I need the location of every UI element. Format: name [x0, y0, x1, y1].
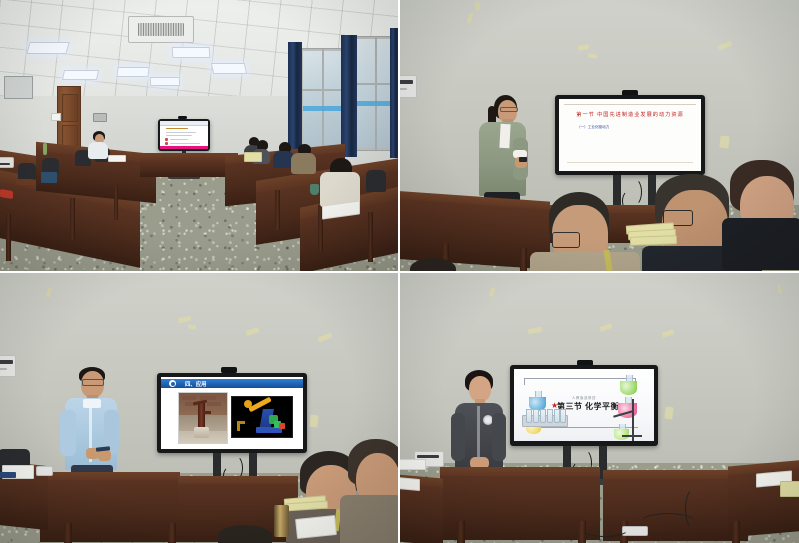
- screen-accent-bar: [160, 146, 208, 149]
- person-hand: [98, 450, 111, 461]
- office-chair[interactable]: [366, 170, 386, 192]
- wall-notice-board: [4, 76, 33, 99]
- panel-bottom-left[interactable]: 四、应用: [0, 271, 398, 543]
- office-chair[interactable]: [18, 163, 36, 180]
- seminar-room-wide-scene: [0, 0, 398, 271]
- person-torso: [722, 218, 799, 270]
- paper-sheet: [295, 515, 337, 539]
- front-table-body: [140, 161, 238, 177]
- floor-cable: [580, 519, 630, 537]
- glasses-icon: [500, 107, 518, 112]
- floor-cable: [685, 487, 705, 531]
- glasses-icon: [82, 379, 104, 386]
- pump-spout: [203, 411, 211, 414]
- teacher-presentation-scene-b: 四、应用: [0, 273, 398, 543]
- slide-engineering: 四、应用: [161, 377, 303, 449]
- panel-bottom-right[interactable]: 人教版选修四 第三节 化学平衡 ★: [398, 271, 799, 543]
- ceiling-light-panel: [62, 70, 99, 80]
- wall-tape-mark: [719, 136, 729, 149]
- person-torso: [88, 142, 108, 159]
- wall-tape-mark: [309, 415, 318, 428]
- person-torso: [530, 252, 640, 271]
- slide-cad-render: [231, 396, 293, 438]
- flask-green: [620, 375, 637, 395]
- desk-device: [36, 466, 53, 476]
- window-curtain: [341, 35, 357, 157]
- desk-leg: [64, 523, 72, 543]
- interactive-flat-panel[interactable]: 四、应用: [157, 373, 307, 453]
- printer-body: [0, 157, 14, 168]
- test-tube-rack: [522, 415, 568, 427]
- cardigan-placket: [477, 406, 480, 464]
- ceiling-light-panel: [211, 63, 247, 74]
- interactive-flat-panel[interactable]: 人教版选修四 第三节 化学平衡 ★: [510, 365, 658, 446]
- tea-cup: [310, 184, 319, 195]
- desk-leg: [457, 521, 465, 543]
- panel-top-left[interactable]: Wide view of U-shaped seminar room with …: [0, 0, 398, 271]
- slide-title: 第一节 中国先进制造业发展的动力资源: [559, 111, 701, 118]
- ceiling-light-panel: [116, 67, 149, 77]
- display-screen[interactable]: [160, 121, 208, 146]
- wall-tape-mark: [664, 407, 673, 420]
- flask-blue: [529, 391, 546, 411]
- person-hair: [218, 525, 272, 543]
- pump-body: [198, 402, 205, 428]
- slide-decor-line: [524, 378, 525, 385]
- water-bottle: [43, 143, 47, 155]
- person-torso: [340, 495, 398, 543]
- paper-sheet: [108, 155, 126, 162]
- chair-armrest: [16, 179, 35, 185]
- wall-speaker: [93, 113, 107, 122]
- wall-sign: [51, 113, 61, 121]
- stacked-books: [244, 152, 262, 162]
- presentation-clicker[interactable]: [519, 157, 527, 162]
- display-screen[interactable]: 人教版选修四 第三节 化学平衡 ★: [514, 369, 654, 441]
- side-desk-body-left: [400, 482, 443, 543]
- slide-title-page: 第一节 中国先进制造业发展的动力资源 （一）工业化驱动力: [559, 99, 701, 171]
- person-torso: [291, 153, 316, 174]
- stacked-books: [780, 481, 799, 497]
- desk-leg: [168, 523, 176, 543]
- printer: [400, 75, 417, 98]
- blue-folder: [0, 472, 16, 478]
- window-curtain: [390, 28, 398, 158]
- printer: [0, 355, 16, 377]
- ceiling-light-panel: [150, 77, 180, 86]
- slide-document: [160, 121, 208, 146]
- window-curtain: [288, 42, 302, 150]
- slide-header-text: 四、应用: [185, 380, 207, 388]
- tea-flask: [274, 505, 289, 537]
- slide-bullet: （一）工业化驱动力: [577, 125, 609, 130]
- paper-sheet: [400, 459, 426, 470]
- panel-top-right[interactable]: 第一节 中国先进制造业发展的动力资源 （一）工业化驱动力: [398, 0, 799, 271]
- ceiling-light-panel: [172, 47, 211, 58]
- blue-box: [41, 172, 57, 183]
- slide-chemistry: 人教版选修四 第三节 化学平衡 ★: [514, 369, 654, 441]
- desk-leg: [520, 248, 527, 271]
- teacher-presentation-scene-c: 人教版选修四 第三节 化学平衡 ★: [400, 273, 799, 543]
- shirt-collar: [83, 399, 101, 408]
- slide-photo-pump: [178, 392, 228, 444]
- flask-lime: [614, 424, 629, 440]
- wall-tape-mark: [188, 325, 196, 330]
- glasses-icon: [552, 232, 580, 248]
- desk-leg: [732, 521, 740, 543]
- person-arm: [451, 413, 465, 461]
- retort-base: [622, 435, 642, 437]
- interactive-flat-panel[interactable]: [158, 119, 210, 151]
- pump-base: [194, 427, 209, 438]
- display-screen[interactable]: 四、应用: [161, 377, 303, 449]
- front-desk-body: [40, 480, 180, 542]
- display-screen[interactable]: 第一节 中国先进制造业发展的动力资源 （一）工业化驱动力: [559, 99, 701, 171]
- interactive-flat-panel[interactable]: 第一节 中国先进制造业发展的动力资源 （一）工业化驱动力: [555, 95, 705, 175]
- teacher-presentation-scene-a: 第一节 中国先进制造业发展的动力资源 （一）工业化驱动力: [400, 0, 799, 271]
- slide-logo-icon: [169, 380, 176, 387]
- ceiling-light-panel: [26, 42, 69, 54]
- slide-header-bar: 四、应用: [161, 379, 303, 388]
- stacked-books: [630, 235, 677, 246]
- person-arm: [60, 410, 76, 456]
- photo-collage: Wide view of U-shaped seminar room with …: [0, 0, 799, 543]
- blazer-lapel: [499, 124, 510, 148]
- person-arm: [492, 413, 506, 461]
- paper-sheet: [400, 477, 420, 491]
- ceiling-ac-unit: [128, 16, 194, 43]
